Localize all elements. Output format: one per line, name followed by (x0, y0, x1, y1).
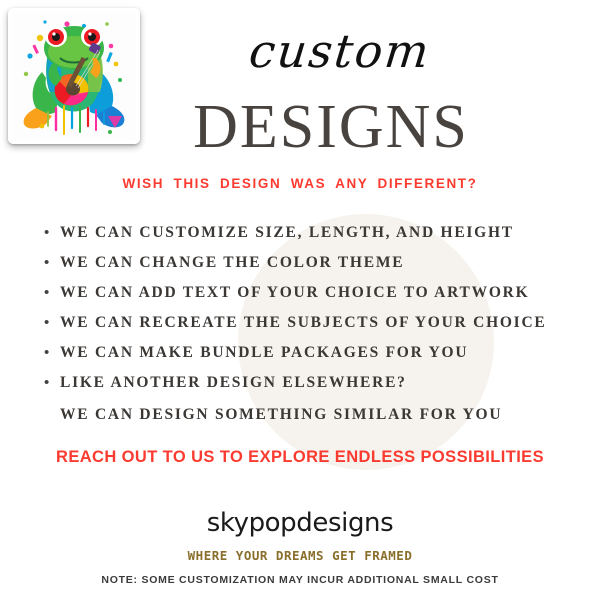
bullet-icon: • (44, 218, 60, 248)
list-item: • WE CAN CHANGE THE COLOR THEME (44, 248, 589, 278)
footnote-disclaimer: NOTE: SOME CUSTOMIZATION MAY INCUR ADDIT… (0, 574, 600, 586)
artwork-canvas (12, 12, 136, 140)
bullet-icon: • (44, 248, 60, 278)
list-item: • WE CAN CUSTOMIZE SIZE, LENGTH, AND HEI… (44, 218, 589, 248)
bullet-icon: • (44, 338, 60, 368)
frog-guitar-artwork-icon (12, 12, 136, 140)
list-item-label: WE CAN ADD TEXT OF YOUR CHOICE TO ARTWOR… (60, 278, 529, 308)
call-to-action-text: REACH OUT TO US TO EXPLORE ENDLESS POSSI… (0, 448, 600, 467)
bullet-icon: • (44, 308, 60, 338)
list-item: • LIKE ANOTHER DESIGN ELSEWHERE? (44, 368, 589, 398)
list-item-continuation: WE CAN DESIGN SOMETHING SIMILAR FOR YOU (60, 398, 589, 428)
list-item-label: WE CAN CUSTOMIZE SIZE, LENGTH, AND HEIGH… (60, 218, 514, 248)
list-item: • WE CAN ADD TEXT OF YOUR CHOICE TO ARTW… (44, 278, 589, 308)
brand-logo-text: skypopdesigns (0, 508, 600, 538)
list-item: • WE CAN RECREATE THE SUBJECTS OF YOUR C… (44, 308, 589, 338)
list-item-label: LIKE ANOTHER DESIGN ELSEWHERE? (60, 368, 407, 398)
list-item-label: WE CAN RECREATE THE SUBJECTS OF YOUR CHO… (60, 308, 547, 338)
bullet-icon: • (44, 368, 60, 398)
list-item: • WE CAN MAKE BUNDLE PACKAGES FOR YOU (44, 338, 589, 368)
list-item-label: WE CAN CHANGE THE COLOR THEME (60, 248, 404, 278)
list-item-label: WE CAN MAKE BUNDLE PACKAGES FOR YOU (60, 338, 468, 368)
bullet-icon: • (44, 278, 60, 308)
artwork-thumbnail-frame[interactable] (8, 8, 140, 144)
sub-headline: WISH THIS DESIGN WAS ANY DIFFERENT? (0, 176, 600, 191)
feature-list: • WE CAN CUSTOMIZE SIZE, LENGTH, AND HEI… (44, 218, 589, 428)
custom-designs-poster: custom DESIGNS WISH THIS DESIGN WAS ANY … (0, 0, 600, 600)
brand-tagline: WHERE YOUR DREAMS GET FRAMED (0, 548, 600, 563)
